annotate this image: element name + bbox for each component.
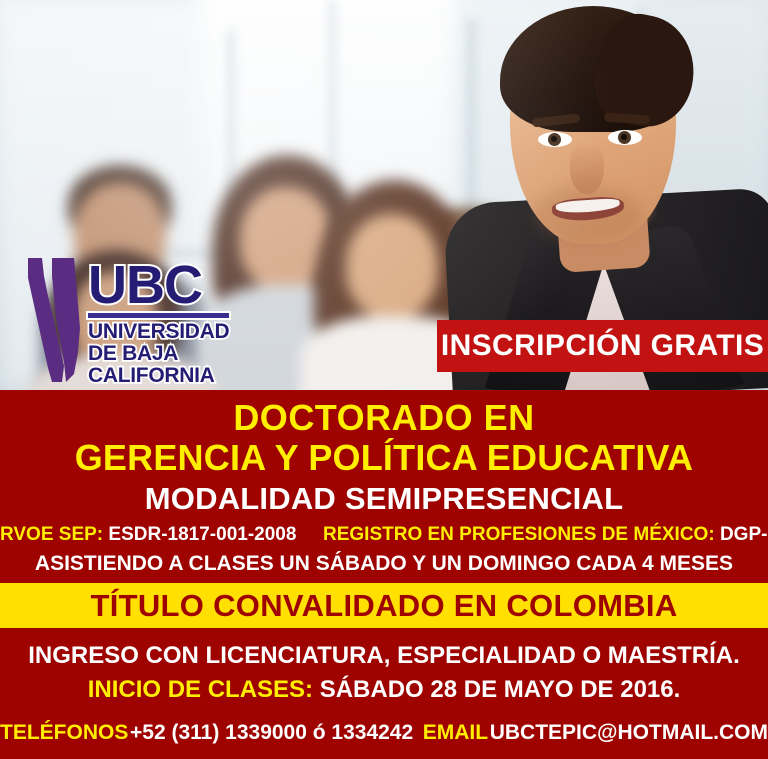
- program-title-line2: GERENCIA Y POLÍTICA EDUCATIVA: [0, 438, 768, 478]
- registro-value: DGP- 206601: [720, 524, 768, 545]
- ubc-logo: UBC UNIVERSIDAD DE BAJA CALIFORNIA: [22, 256, 222, 384]
- program-banner: DOCTORADO EN GERENCIA Y POLÍTICA EDUCATI…: [0, 390, 768, 583]
- logo-line-california: CALIFORNIA: [88, 365, 229, 387]
- logo-acronym: UBC: [88, 260, 229, 311]
- contact-row: TELÉFONOS +52 (311) 1339000 ó 1334242 EM…: [0, 705, 768, 745]
- class-start-value: SÁBADO 28 DE MAYO DE 2016.: [320, 676, 681, 703]
- email-label: EMAIL: [423, 721, 488, 745]
- colombia-validation-band: TÍTULO CONVALIDADO EN COLOMBIA: [0, 583, 768, 628]
- rvoe-value: ESDR-1817-001-2008: [108, 524, 296, 545]
- phone-value[interactable]: +52 (311) 1339000 ó 1334242: [130, 721, 413, 745]
- accreditation-line: RVOE SEP: ESDR-1817-001-2008 REGISTRO EN…: [0, 517, 768, 547]
- promotional-poster: UBC UNIVERSIDAD DE BAJA CALIFORNIA INSCR…: [0, 0, 768, 759]
- rvoe-label: RVOE SEP:: [0, 524, 103, 545]
- baja-california-peninsula-icon: [22, 256, 84, 384]
- program-title-line1: DOCTORADO EN: [0, 390, 768, 438]
- colombia-validation-label: TÍTULO CONVALIDADO EN COLOMBIA: [90, 588, 677, 624]
- class-schedule: ASISTIENDO A CLASES UN SÁBADO Y UN DOMIN…: [0, 547, 768, 577]
- phone-label: TELÉFONOS: [0, 721, 128, 745]
- class-start-label: INICIO DE CLASES:: [88, 676, 313, 703]
- logo-line-universidad: UNIVERSIDAD: [88, 321, 229, 343]
- program-modality: MODALIDAD SEMIPRESENCIAL: [0, 479, 768, 518]
- free-enrollment-badge: INSCRIPCIÓN GRATIS: [437, 320, 768, 372]
- registro-label: REGISTRO EN PROFESIONES DE MÉXICO:: [323, 524, 715, 545]
- admission-and-contact-section: INGRESO CON LICENCIATURA, ESPECIALIDAD O…: [0, 628, 768, 759]
- logo-line-debaja: DE BAJA: [88, 343, 229, 365]
- email-value[interactable]: UBCTEPIC@HOTMAIL.COM: [490, 721, 768, 745]
- free-enrollment-label: INSCRIPCIÓN GRATIS: [441, 329, 764, 363]
- class-start-line: INICIO DE CLASES: SÁBADO 28 DE MAYO DE 2…: [0, 671, 768, 705]
- admission-requirements: INGRESO CON LICENCIATURA, ESPECIALIDAD O…: [0, 628, 768, 671]
